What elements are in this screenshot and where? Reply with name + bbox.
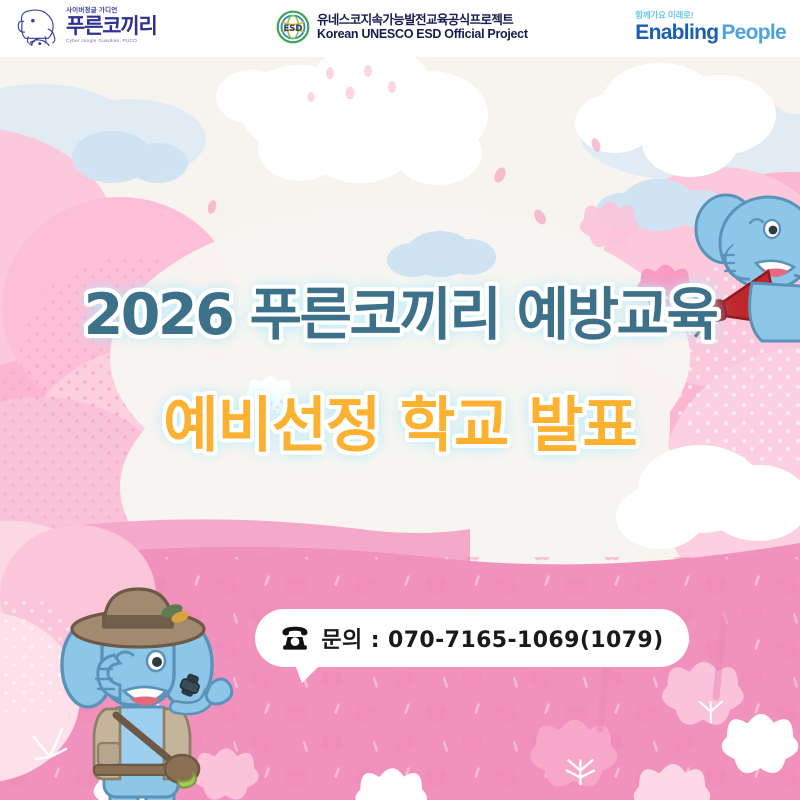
logo-word-enabling: Enabling <box>635 21 718 44</box>
scene-background <box>0 57 800 800</box>
poster-root: 2026 푸른코끼리 예방교육 예비선정 학교 발표 문의 : 070-7165… <box>0 0 800 800</box>
telephone-icon <box>280 626 310 650</box>
logo-subtitle: Cyber Jungle Guardian, PUCO <box>66 39 157 44</box>
logo-enabling-people[interactable]: 함께가요 미래로! EnablingPeople <box>635 9 786 43</box>
logo-tagline: 함께가요 미래로! <box>635 9 786 21</box>
logo-title-kr: 유네스코지속가능발전교육공식프로젝트 <box>317 13 528 27</box>
contact-row: 문의 : 070-7165-1069(1079) <box>280 622 663 654</box>
logo-word-people: People <box>721 21 786 44</box>
logo-unesco-esd-text: 유네스코지속가능발전교육공식프로젝트 Korean UNESCO ESD Off… <box>317 13 528 41</box>
logo-unesco-esd[interactable]: ESD 유네스코지속가능발전교육공식프로젝트 Korean UNESCO ESD… <box>276 10 528 44</box>
logo-purun-kokkiri-text: 사이버정글 가디언 푸른코끼리 Cyber Jungle Guardian, P… <box>66 8 157 43</box>
logo-title-en: Korean UNESCO ESD Official Project <box>317 27 528 41</box>
logo-purun-kokkiri[interactable]: 사이버정글 가디언 푸른코끼리 Cyber Jungle Guardian, P… <box>16 6 157 46</box>
logo-tagline: 사이버정글 가디언 <box>66 8 157 15</box>
elephant-outline-icon <box>16 6 62 46</box>
logo-title: 푸른코끼리 <box>66 16 157 37</box>
background-illustration <box>0 57 800 800</box>
header-logo-band: 사이버정글 가디언 푸른코끼리 Cyber Jungle Guardian, P… <box>0 0 800 57</box>
esd-globe-icon: ESD <box>276 10 310 44</box>
contact-text: 문의 : 070-7165-1069(1079) <box>321 622 663 654</box>
contact-bubble[interactable]: 문의 : 070-7165-1069(1079) <box>255 609 689 667</box>
svg-text:ESD: ESD <box>284 24 303 34</box>
logo-wordmark: EnablingPeople <box>635 22 786 43</box>
